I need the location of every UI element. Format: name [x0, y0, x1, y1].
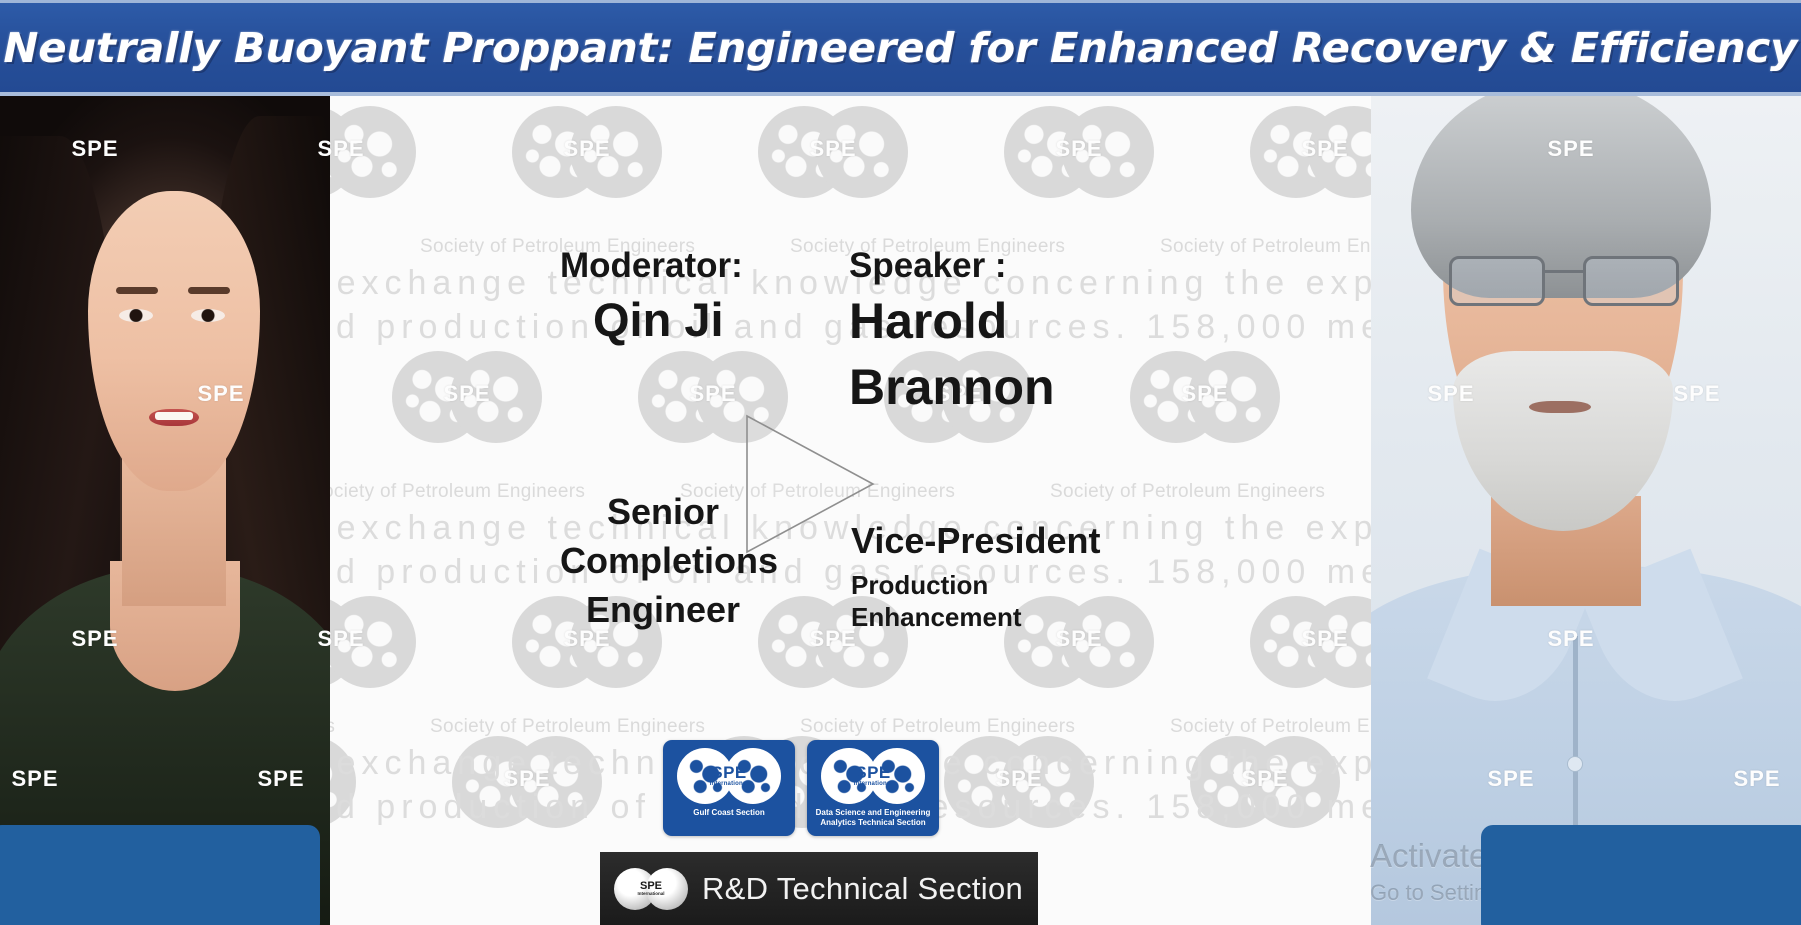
speaker-photo	[1371, 96, 1801, 925]
video-player-frame[interactable]: SPE SPE SPE SPE SPE SPE SPE SPE SPE SPE …	[0, 96, 1801, 925]
teeth	[155, 412, 193, 420]
eyeglasses	[1449, 256, 1679, 308]
spe-logo-word: SPE	[1216, 766, 1314, 792]
spe-logo-word: SPE	[664, 381, 762, 407]
spe-globe-logo: SPE	[1004, 596, 1154, 688]
badge-gulf-coast-section: SPE International Gulf Coast Section	[663, 740, 795, 836]
moderator-photo	[0, 96, 330, 925]
spe-logo-word: SPE	[46, 626, 144, 652]
lens-right	[1583, 256, 1679, 306]
lens-left	[1449, 256, 1545, 306]
watermark-org-text: Society of Petroleum Engineers	[430, 716, 705, 738]
play-triangle-icon	[745, 414, 875, 554]
spe-logo-word: SPE	[1402, 381, 1500, 407]
eye-right	[191, 309, 225, 322]
spe-logo-word: SPE International	[697, 764, 761, 787]
spe-logo-word: SPE	[0, 381, 24, 407]
spe-logo-word: SPE	[1708, 766, 1801, 792]
presentation-title: Neutrally Buoyant Proppant: Engineered f…	[4, 24, 1798, 72]
spe-logo-word: SPE	[172, 381, 270, 407]
spe-globe-logo: SPE	[758, 106, 908, 198]
spe-logo-word: SPE	[1522, 626, 1620, 652]
eyebrow-left	[116, 287, 158, 294]
spe-logo-word: SPE	[292, 626, 390, 652]
speaker-label: Speaker :	[849, 246, 1007, 286]
speaker-name-line-1: Harold	[849, 292, 1007, 350]
eye-left	[119, 309, 153, 322]
spe-globe-logo: SPE	[392, 351, 542, 443]
screenshot-root: Neutrally Buoyant Proppant: Engineered f…	[0, 0, 1801, 925]
spe-logo-word: SPE	[538, 136, 636, 162]
speaker-role-line-2: Production	[851, 570, 988, 601]
spe-logo-word: SPE	[970, 766, 1068, 792]
spe-logo-word: SPE	[1276, 626, 1374, 652]
spe-logo-word: SPE	[0, 766, 84, 792]
spe-globe-logo: SPE	[1004, 106, 1154, 198]
badge-caption: Gulf Coast Section	[668, 808, 790, 818]
spe-logo-word: SPE	[46, 136, 144, 162]
moderator-name: Qin Ji	[593, 292, 724, 347]
watermark-org-text: Society of Petroleum Engineers	[310, 481, 585, 503]
bottom-right-blue-panel	[1481, 825, 1801, 925]
spe-logo-word: SPE	[1648, 381, 1746, 407]
spe-logo-word: SPE	[1030, 136, 1128, 162]
rd-technical-section-label: R&D Technical Section	[702, 871, 1023, 907]
presentation-title-banner: Neutrally Buoyant Proppant: Engineered f…	[0, 0, 1801, 96]
spe-logo-word: SPE International	[841, 764, 905, 787]
spe-logo-word: SPE	[1462, 766, 1560, 792]
shirt-button	[1567, 756, 1583, 772]
glasses-bridge	[1545, 270, 1583, 273]
speaker-role-line-3: Enhancement	[851, 602, 1022, 633]
watermark-org-text: Society of Petroleum Engineers	[800, 716, 1075, 738]
spe-logo-word: SPE	[478, 766, 576, 792]
watermark-org-text: Society of Petroleum Engineers	[1050, 481, 1325, 503]
spe-section-badges: SPE International Gulf Coast Section SPE…	[663, 740, 939, 836]
speaker-role-line-1: Vice-President	[851, 520, 1100, 562]
eyebrow-right	[188, 287, 230, 294]
moderator-role-line-3: Engineer	[586, 589, 740, 631]
spe-logo-word: SPE	[1522, 136, 1620, 162]
spe-minilogo: SPE International	[614, 868, 688, 910]
speaker-name-line-2: Brannon	[849, 358, 1055, 416]
spe-logo-word: SPE	[1030, 626, 1128, 652]
spe-logo-word: SPE	[292, 136, 390, 162]
spe-logo-word: SPE	[232, 766, 330, 792]
spe-logo-word: SPE International	[630, 881, 672, 897]
moderator-role-line-1: Senior	[607, 491, 719, 533]
badge-caption: Data Science and Engineering Analytics T…	[812, 808, 934, 828]
rd-technical-section-bar: SPE International R&D Technical Section	[600, 852, 1038, 925]
spe-logo-word: SPE	[784, 136, 882, 162]
spe-logo-word: SPE	[1276, 136, 1374, 162]
spe-globe-logo: SPE	[1130, 351, 1280, 443]
spe-badge-logo: SPE International	[821, 748, 925, 804]
bottom-left-blue-panel	[0, 825, 320, 925]
spe-logo-word: SPE	[1156, 381, 1254, 407]
moderator-label: Moderator:	[560, 246, 743, 286]
spe-badge-logo: SPE International	[677, 748, 781, 804]
spe-logo-word: SPE	[418, 381, 516, 407]
badge-data-science-section: SPE International Data Science and Engin…	[807, 740, 939, 836]
spe-globe-logo: SPE	[512, 106, 662, 198]
mouth	[1529, 401, 1591, 413]
